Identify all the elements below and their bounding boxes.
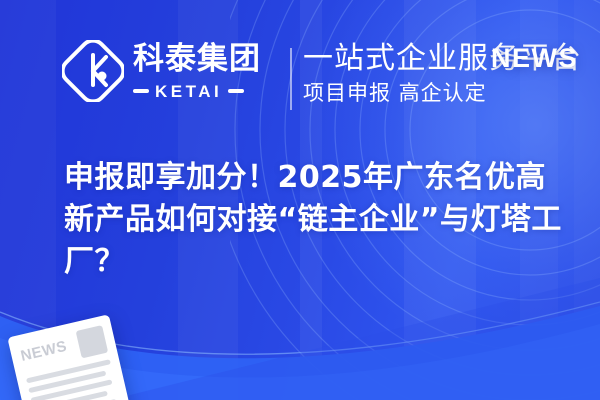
slogan-sub: 项目申报 高企认定 <box>303 80 487 106</box>
vertical-divider <box>290 48 292 110</box>
newspaper-title: NEWS <box>18 333 73 365</box>
image-placeholder-icon <box>76 325 109 358</box>
news-banner: 科泰集团 KETAI 一站式企业服务平台 项目申报 高企认定 NEWS 申报即享… <box>0 0 600 400</box>
logo-dash-right <box>228 89 244 93</box>
brand-name-cn: 科泰集团 <box>133 42 261 76</box>
ketai-logo-icon <box>62 40 124 102</box>
logo-dash-left <box>133 89 149 93</box>
brand-name-en: KETAI <box>155 83 222 100</box>
brand-name-en-row: KETAI <box>133 82 281 100</box>
banner-header: 科泰集团 KETAI 一站式企业服务平台 项目申报 高企认定 NEWS <box>0 38 600 122</box>
news-badge: NEWS <box>491 43 578 74</box>
headline-text: 申报即享加分！2025年广东名优高新产品如何对接“链主企业”与灯塔工厂？ <box>64 157 570 283</box>
